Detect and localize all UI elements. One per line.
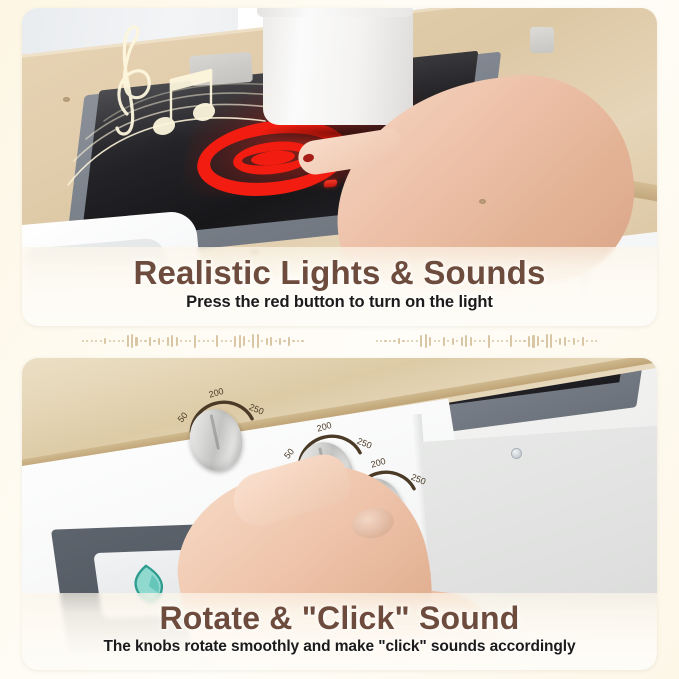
waveform-bar [537,336,539,346]
waveform-group [376,331,598,351]
waveform-bar [91,340,93,342]
waveform-bar [479,340,481,342]
waveform-bar [550,334,552,348]
waveform-bar [113,340,115,342]
music-notes [79,18,229,148]
waveform-bar [234,336,236,347]
waveform-bar [506,340,508,342]
waveform-bar [288,337,290,346]
caption-block: Rotate & "Click" Sound The knobs rotate … [22,593,657,670]
waveform-bar [86,340,88,342]
waveform-bar [443,337,445,346]
waveform-bar [393,340,395,342]
waveform-bar [492,340,494,342]
waveform-bar [416,340,418,342]
waveform-divider [0,330,679,352]
waveform-bar [380,340,382,342]
svg-text:50: 50 [282,447,296,461]
waveform-bar [407,340,409,342]
waveform-bar [203,340,205,342]
product-feature-image: { "background_color": "#fdf8ec", "panels… [0,0,679,679]
waveform-bar [176,337,178,346]
waveform-bar [207,340,209,342]
waveform-bar [158,338,160,345]
waveform-bar [555,340,557,342]
waveform-bar [194,335,196,348]
svg-text:200: 200 [316,420,333,434]
waveform-bar [153,340,155,342]
waveform-bar [519,340,521,342]
waveform-bar [586,340,588,342]
waveform-bar [402,340,404,342]
waveform-bar [376,340,378,342]
waveform-bar [559,338,561,345]
waveform-bar [283,340,285,342]
waveform-bar [171,335,173,347]
screw-head [479,199,486,204]
waveform-bar [189,340,191,342]
waveform-bar [510,335,512,347]
waveform-bar [488,335,490,348]
waveform-bar [135,337,137,346]
waveform-bar [261,340,263,342]
waveform-bar [82,340,84,342]
waveform-bar [456,340,458,342]
waveform-bar [389,340,391,342]
waveform-bar [239,335,241,348]
panel-title: Rotate & "Click" Sound [36,601,643,637]
svg-text:200: 200 [370,456,387,470]
waveform-bar [497,340,499,342]
waveform-bar [252,334,254,348]
waveform-bar [461,337,463,346]
waveform-bar [127,335,129,347]
feature-panel-lights-sounds: Realistic Lights & Sounds Press the red … [22,8,657,326]
waveform-bar [470,337,472,346]
waveform-bar [95,340,97,342]
waveform-bar [109,340,111,342]
panel-subtitle: Press the red button to turn on the ligh… [36,293,643,312]
waveform-bar [523,340,525,342]
waveform-bar [212,340,214,342]
waveform-bar [501,340,503,342]
panel-title: Realistic Lights & Sounds [36,255,643,292]
waveform-bar [528,336,530,347]
waveform-bar [474,340,476,342]
svg-text:50: 50 [176,410,190,424]
waveform-bar [515,340,517,342]
waveform-bar [225,340,227,342]
toy-pot-lid [257,8,413,17]
waveform-bar [270,337,272,346]
waveform-bar [144,340,146,342]
waveform-bar [292,340,294,342]
waveform-bar [149,337,151,346]
waveform-bar [257,334,259,348]
waveform-bar [162,340,164,342]
waveform-bar [131,334,133,348]
caption-block: Realistic Lights & Sounds Press the red … [22,247,657,326]
waveform-bar [577,340,579,342]
waveform-bar [301,340,303,342]
waveform-bar [279,338,281,345]
waveform-bar [398,338,400,344]
waveform-bar [541,340,543,342]
waveform-bar [198,340,200,342]
waveform-bar [483,340,485,342]
waveform-bar [230,340,232,342]
waveform-bar [297,340,299,342]
waveform-bar [216,335,218,347]
waveform-bar [221,340,223,342]
feature-panel-rotate-click: 50 200 250 50 200 250 10 50 200 250 10 [22,358,657,670]
waveform-bar [573,338,575,345]
waveform-bar [532,335,534,348]
waveform-bar [248,340,250,342]
waveform-bar [546,334,548,348]
waveform-bar [122,340,124,342]
panel-subtitle: The knobs rotate smoothly and make "clic… [36,638,643,656]
waveform-bar [167,337,169,346]
waveform-bar [425,334,427,348]
treble-clef-icon [117,26,149,133]
toy-pot-handle-right [530,27,554,53]
waveform-bar [465,335,467,347]
waveform-bar [275,340,277,342]
waveform-bar [420,335,422,347]
waveform-bar [243,336,245,346]
waveform-bar [438,340,440,342]
waveform-bar [185,340,187,342]
waveform-bar [104,338,106,344]
waveform-bar [582,337,584,346]
waveform-bar [591,340,593,342]
waveform-bar [568,340,570,342]
eighth-note-pair-icon [152,70,216,136]
waveform-bar [595,340,597,342]
waveform-bar [452,338,454,345]
waveform-bar [118,340,120,342]
waveform-bar [384,340,386,342]
waveform-bar [100,340,102,342]
waveform-bar [140,340,142,342]
waveform-bar [429,337,431,346]
waveform-bar [447,340,449,342]
waveform-bar [434,340,436,342]
svg-text:200: 200 [208,386,225,400]
waveform-bar [564,337,566,346]
waveform-bar [266,338,268,345]
waveform-group [82,331,304,351]
waveform-bar [411,340,413,342]
waveform-bar [180,340,182,342]
